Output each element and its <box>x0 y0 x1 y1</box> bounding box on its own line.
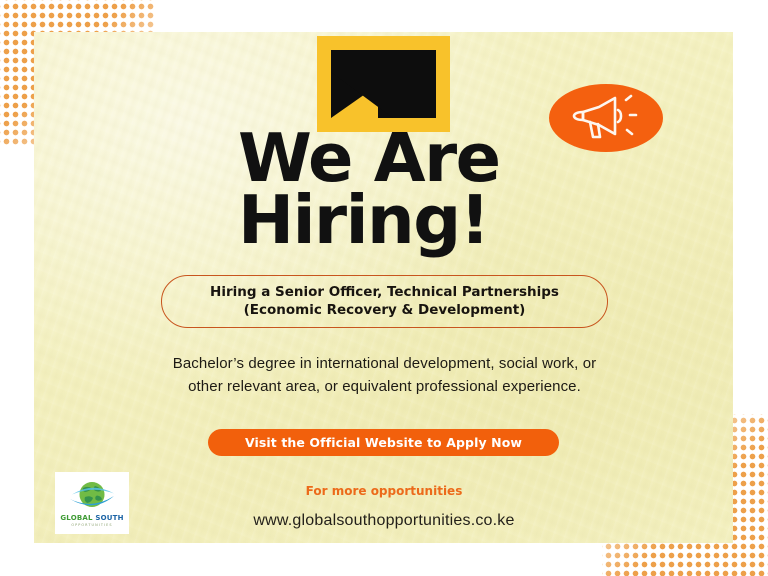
globe-icon <box>66 479 118 513</box>
arrow-up-left-icon <box>331 50 436 118</box>
headline-line-2: Hiring! <box>238 190 558 252</box>
megaphone-badge <box>549 84 663 152</box>
logo: GLOBAL SOUTH OPPORTUNITIES <box>55 472 129 534</box>
website-url[interactable]: www.globalsouthopportunities.co.ke <box>184 512 584 530</box>
arrow-badge <box>317 36 450 132</box>
more-opportunities-label: For more opportunities <box>234 484 534 498</box>
logo-name-secondary: SOUTH <box>95 514 123 522</box>
apply-now-button[interactable]: Visit the Official Website to Apply Now <box>208 429 559 456</box>
job-subtitle: (Economic Recovery & Development) <box>210 302 559 320</box>
logo-tagline: OPPORTUNITIES <box>71 523 112 527</box>
hiring-poster: We Are Hiring! Hiring a Senior Officer, … <box>0 0 768 576</box>
requirement-text: Bachelor’s degree in international devel… <box>164 353 605 399</box>
job-title: Hiring a Senior Officer, Technical Partn… <box>210 284 559 300</box>
job-title-pill: Hiring a Senior Officer, Technical Partn… <box>161 275 608 328</box>
megaphone-icon <box>569 93 643 143</box>
apply-now-label: Visit the Official Website to Apply Now <box>245 435 522 450</box>
page-title: We Are Hiring! <box>238 128 558 251</box>
logo-name: GLOBAL SOUTH <box>60 514 123 522</box>
logo-name-primary: GLOBAL <box>60 514 92 522</box>
